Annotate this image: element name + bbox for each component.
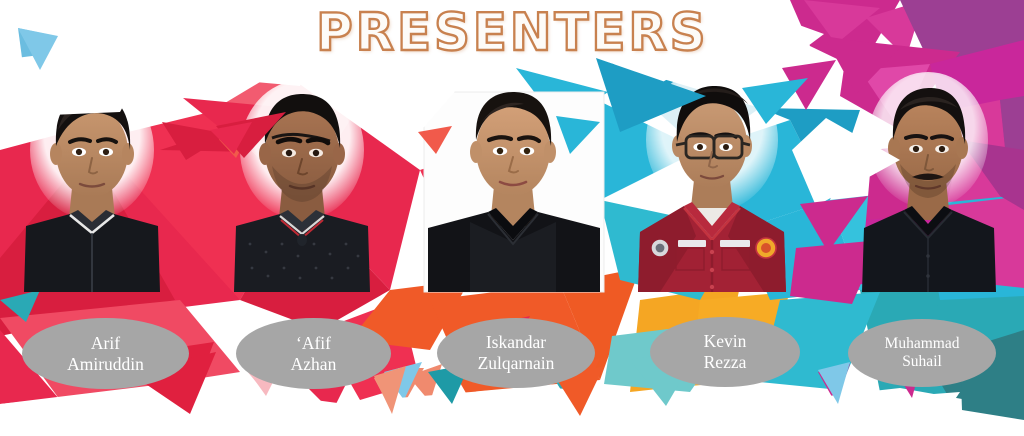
presenter-last-name: Amiruddin <box>67 354 144 375</box>
presenter-first-name: ‘Afif <box>296 333 331 354</box>
presenter-last-name: Azhan <box>291 354 337 375</box>
presenter-first-name: Arif <box>91 333 120 354</box>
accent-triangle-cyan-small <box>556 116 600 154</box>
presenter-name-badge-kevin-rezza: Kevin Rezza <box>650 317 800 387</box>
presenter-first-name: Iskandar <box>486 332 546 353</box>
accent-triangle-small-coral <box>418 126 452 154</box>
presenter-name-badge-iskandar-zulqarnain: Iskandar Zulqarnain <box>437 318 595 388</box>
presenter-first-name: Kevin <box>704 331 747 352</box>
presenter-last-name: Rezza <box>704 352 747 373</box>
presenter-name-badge-muhammad-suhail: Muhammad Suhail <box>848 319 996 387</box>
presenters-banner: PRESENTERS Arif Amiruddin ‘Afif Azhan Is… <box>0 0 1024 436</box>
presenter-first-name: Muhammad <box>885 335 960 353</box>
presenter-name-badge-afif-azhan: ‘Afif Azhan <box>236 318 391 389</box>
presenter-last-name: Zulqarnain <box>478 353 555 374</box>
presenter-name-badge-arif-amiruddin: Arif Amiruddin <box>22 318 189 389</box>
presenter-last-name: Suhail <box>902 353 942 371</box>
